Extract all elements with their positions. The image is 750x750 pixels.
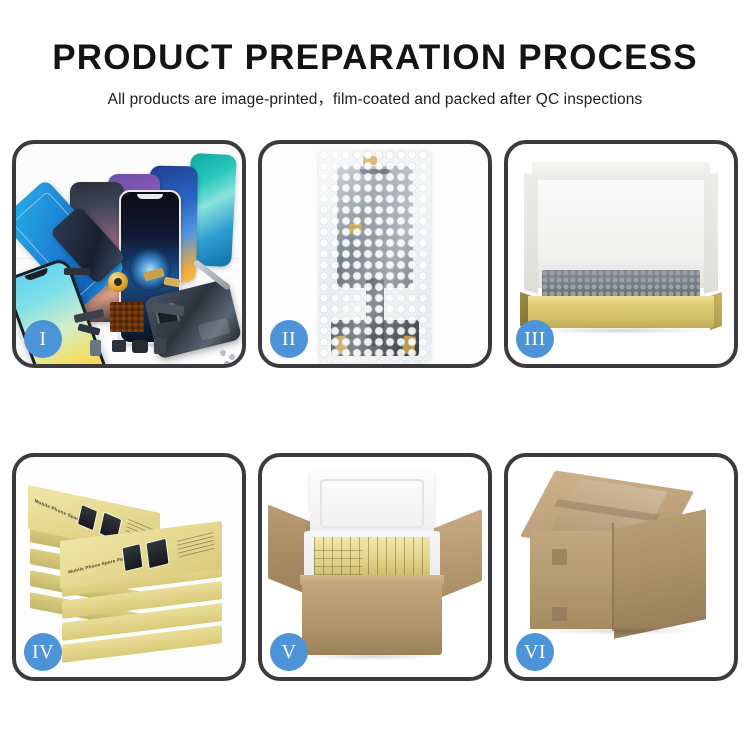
carton-right-face-icon — [614, 509, 706, 639]
bubble-wrap-bag-icon — [319, 150, 431, 362]
step-badge-1: I — [24, 320, 62, 358]
logic-board-chip-icon — [110, 302, 144, 332]
box-stack-icon: Mobile Phone Spare Parts Mobile Phone Sp… — [26, 475, 232, 665]
step-panel-1[interactable]: I — [12, 140, 246, 368]
foam-lid-icon — [310, 471, 434, 537]
phone-notch — [137, 194, 163, 199]
sim-tray-part-icon — [90, 340, 101, 356]
camera-lens-part-icon — [108, 272, 128, 292]
box-print-label: Mobile Phone Spare Parts — [68, 555, 130, 575]
step-panel-6[interactable]: VI — [504, 453, 738, 681]
taptic-engine-part-icon — [132, 340, 148, 353]
step-badge-4: IV — [24, 633, 62, 671]
header: PRODUCT PREPARATION PROCESS All products… — [0, 0, 750, 109]
box-interior-right-wall — [704, 172, 718, 294]
drop-shadow — [532, 327, 710, 334]
step-panel-2[interactable]: II — [258, 140, 492, 368]
step-badge-3: III — [516, 320, 554, 358]
step-panel-4[interactable]: Mobile Phone Spare Parts Mobile Phone Sp… — [12, 453, 246, 681]
battery-connector-part-icon — [154, 338, 166, 354]
step-badge-6: VI — [516, 633, 554, 671]
phone-notch — [24, 268, 49, 282]
product-preparation-infographic: PRODUCT PREPARATION PROCESS All products… — [0, 0, 750, 750]
speaker-part-icon — [112, 340, 126, 352]
box-interior-left-wall — [524, 172, 538, 294]
page-subtitle: All products are image-printed，film-coat… — [0, 87, 750, 109]
process-steps-grid: I II — [12, 140, 738, 681]
plastic-sheen — [319, 150, 431, 362]
carton-corner-edge — [612, 523, 614, 631]
carton-left-face-icon — [530, 531, 616, 629]
step-badge-2: II — [270, 320, 308, 358]
drop-shadow — [536, 627, 700, 635]
step-badge-5: V — [270, 633, 308, 671]
carton-handle-tab-icon — [552, 549, 567, 565]
carton-front-icon — [302, 581, 442, 655]
step-panel-3[interactable]: III — [504, 140, 738, 368]
page-title: PRODUCT PREPARATION PROCESS — [0, 40, 750, 77]
yellow-box-front-icon — [528, 302, 714, 328]
box-print-text-lines — [177, 532, 215, 560]
box-print-phone-thumb — [123, 544, 143, 571]
box-print-phone-thumb — [147, 539, 169, 568]
drop-shadow — [306, 653, 438, 660]
carton-handle-tab-icon — [552, 607, 567, 621]
step-panel-5[interactable]: V — [258, 453, 492, 681]
screws-icon — [220, 350, 226, 356]
yellow-boxes-inside-icon — [314, 537, 430, 575]
antenna-strip-part-icon — [64, 268, 90, 275]
